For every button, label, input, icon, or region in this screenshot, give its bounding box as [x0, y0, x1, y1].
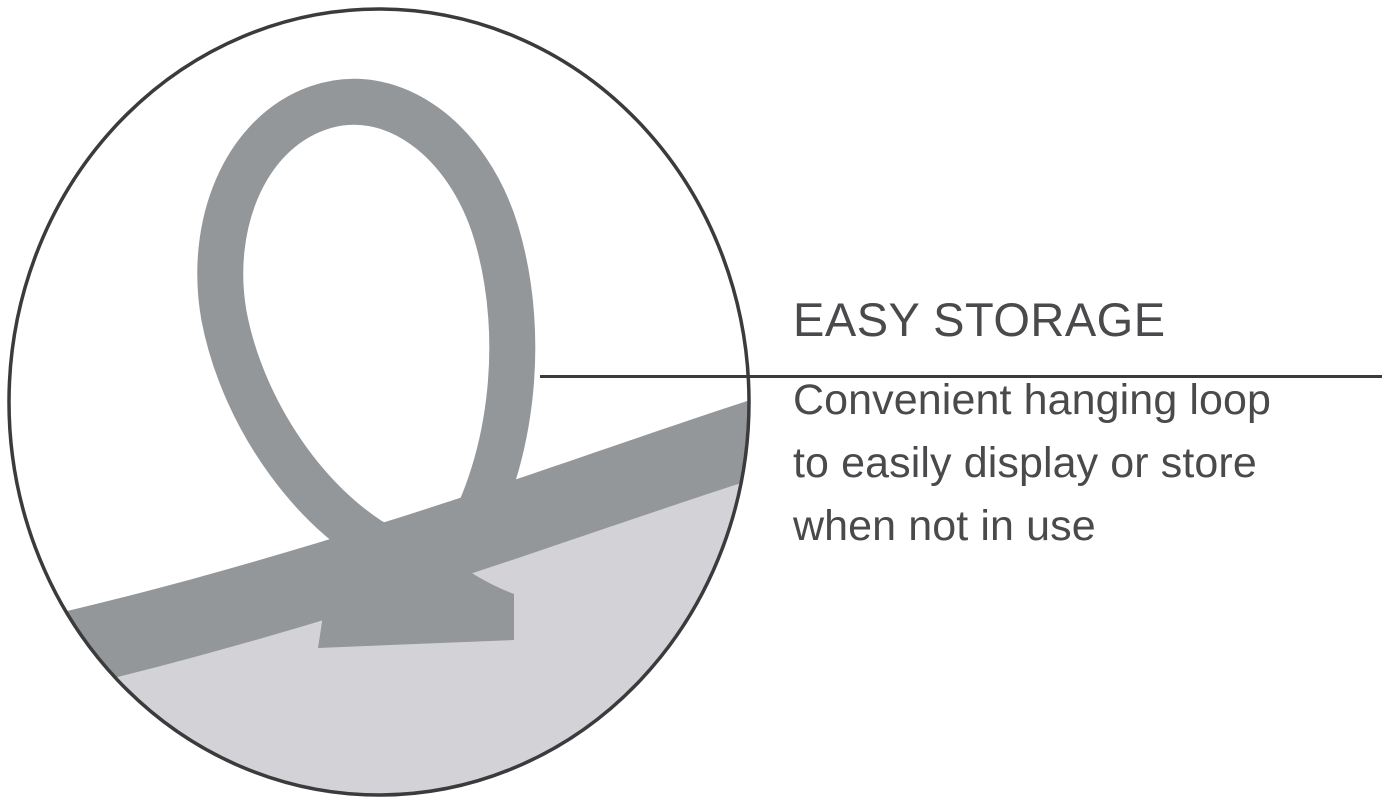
description-line-2: to easily display or store [793, 432, 1373, 495]
feature-title: EASY STORAGE [793, 296, 1373, 343]
description-line-3: when not in use [793, 495, 1373, 558]
easy-storage-illustration [0, 0, 790, 805]
callout-text-block: EASY STORAGE Convenient hanging loop to … [793, 296, 1373, 559]
feature-description: Convenient hanging loop to easily displa… [793, 343, 1373, 559]
description-line-1: Convenient hanging loop [793, 369, 1373, 432]
feature-callout: EASY STORAGE Convenient hanging loop to … [0, 0, 1387, 805]
